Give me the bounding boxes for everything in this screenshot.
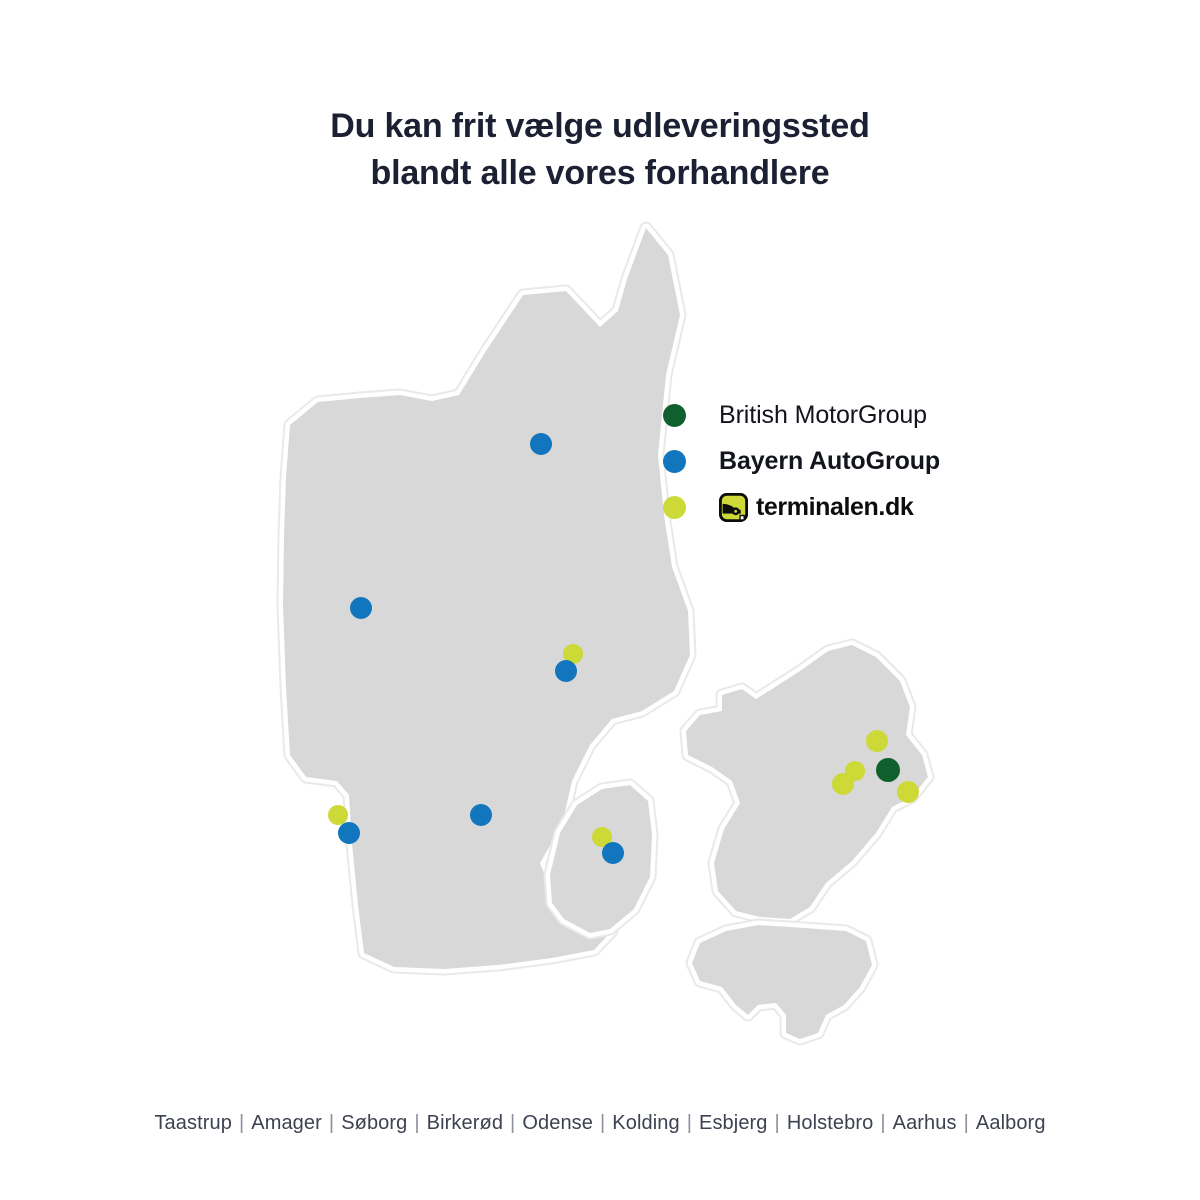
page-title-line-1: Du kan frit vælge udleveringssted (0, 103, 1200, 150)
city-separator: | (503, 1112, 522, 1135)
terminalen-brand-name: terminalen.dk (756, 493, 913, 522)
city-list: Taastrup|Amager|Søborg|Birkerød|Odense|K… (0, 1112, 1200, 1135)
legend-swatch-lime (663, 496, 686, 519)
legend-item-bayern-autogroup[interactable]: Bayern AutoGroup (663, 438, 1023, 484)
city-separator: | (593, 1112, 612, 1135)
city-separator: | (232, 1112, 251, 1135)
city-separator: | (957, 1112, 976, 1135)
map-marker-kolding[interactable] (470, 804, 492, 826)
denmark-map (0, 215, 1200, 1075)
terminalen-brand-lockup: terminalen.dk (719, 493, 913, 522)
legend-item-terminalen[interactable]: terminalen.dk (663, 484, 1023, 530)
city-amager: Amager (251, 1112, 322, 1134)
legend: British MotorGroup Bayern AutoGroup (663, 392, 1023, 530)
map-marker-esbjerg-b[interactable] (338, 822, 360, 844)
city-esbjerg: Esbjerg (699, 1112, 768, 1134)
city-holstebro: Holstebro (787, 1112, 874, 1134)
city-separator: | (768, 1112, 787, 1135)
city-taastrup: Taastrup (154, 1112, 232, 1134)
map-marker-esbjerg-t[interactable] (328, 805, 348, 825)
poster-root: Du kan frit vælge udleveringssted blandt… (0, 0, 1200, 1200)
city-søborg: Søborg (341, 1112, 407, 1134)
legend-label-bayern-autogroup: Bayern AutoGroup (719, 447, 940, 476)
legend-label-british-motorgroup: British MotorGroup (719, 401, 927, 430)
map-marker-aalborg[interactable] (530, 433, 552, 455)
map-marker-aarhus-b[interactable] (555, 660, 577, 682)
legend-item-british-motorgroup[interactable]: British MotorGroup (663, 392, 1023, 438)
map-marker-amager-t[interactable] (897, 781, 919, 803)
map-marker-birkerod[interactable] (866, 730, 888, 752)
landmass-lolland-falster (692, 925, 872, 1039)
city-kolding: Kolding (612, 1112, 679, 1134)
page-title: Du kan frit vælge udleveringssted blandt… (0, 103, 1200, 197)
map-marker-amager-bmg[interactable] (876, 758, 900, 782)
city-birkerød: Birkerød (427, 1112, 503, 1134)
page-title-line-2: blandt alle vores forhandlere (0, 150, 1200, 197)
city-separator: | (322, 1112, 341, 1135)
landmass-zealand (686, 645, 928, 919)
map-marker-taastrup[interactable] (832, 773, 854, 795)
map-marker-holstebro[interactable] (350, 597, 372, 619)
city-aarhus: Aarhus (893, 1112, 957, 1134)
terminalen-van-icon (719, 493, 748, 522)
map-marker-odense-b[interactable] (602, 842, 624, 864)
city-aalborg: Aalborg (976, 1112, 1046, 1134)
city-odense: Odense (522, 1112, 593, 1134)
legend-swatch-blue (663, 450, 686, 473)
denmark-map-svg (0, 215, 1200, 1075)
legend-swatch-dark-green (663, 404, 686, 427)
city-separator: | (873, 1112, 892, 1135)
city-separator: | (407, 1112, 426, 1135)
city-separator: | (680, 1112, 699, 1135)
